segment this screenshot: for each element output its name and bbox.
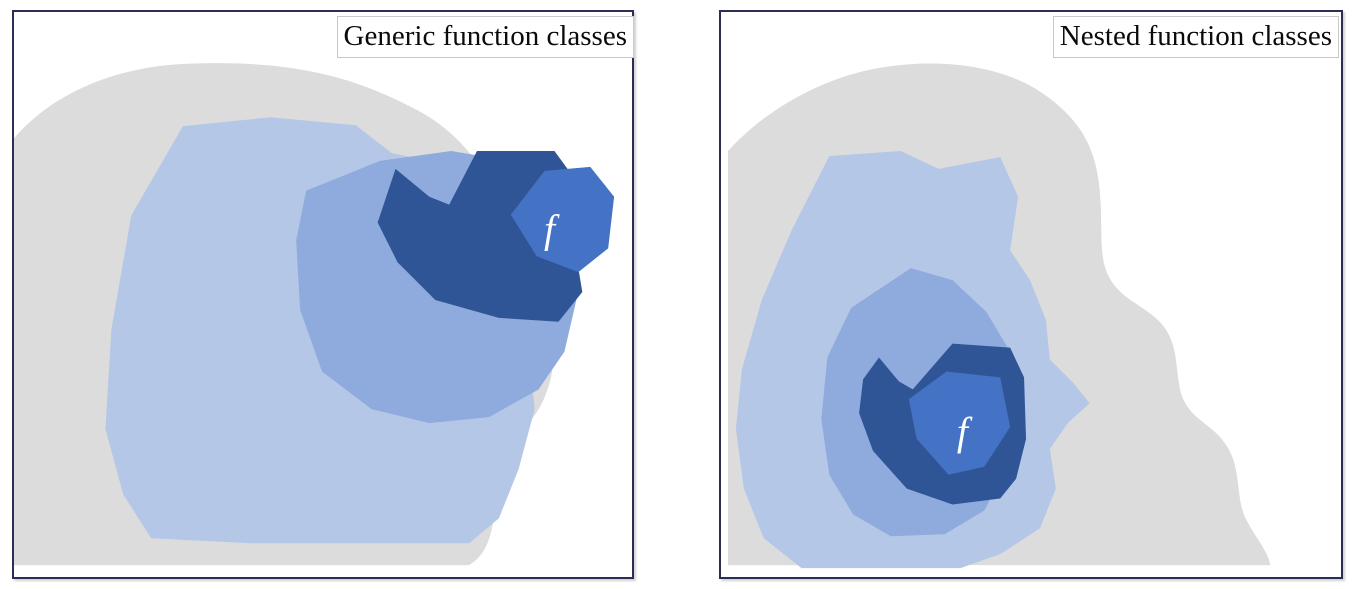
panel-nested-function-classes: f Nested function classes — [719, 10, 1343, 579]
left-panel-title: Generic function classes — [337, 16, 634, 58]
right-panel-title: Nested function classes — [1053, 16, 1339, 58]
figure-root: f Generic function classes f Nested func… — [0, 0, 1355, 589]
right-panel-diagram: f — [721, 12, 1341, 577]
left-panel-diagram: f — [14, 12, 632, 577]
panel-generic-function-classes: f Generic function classes — [12, 10, 634, 579]
